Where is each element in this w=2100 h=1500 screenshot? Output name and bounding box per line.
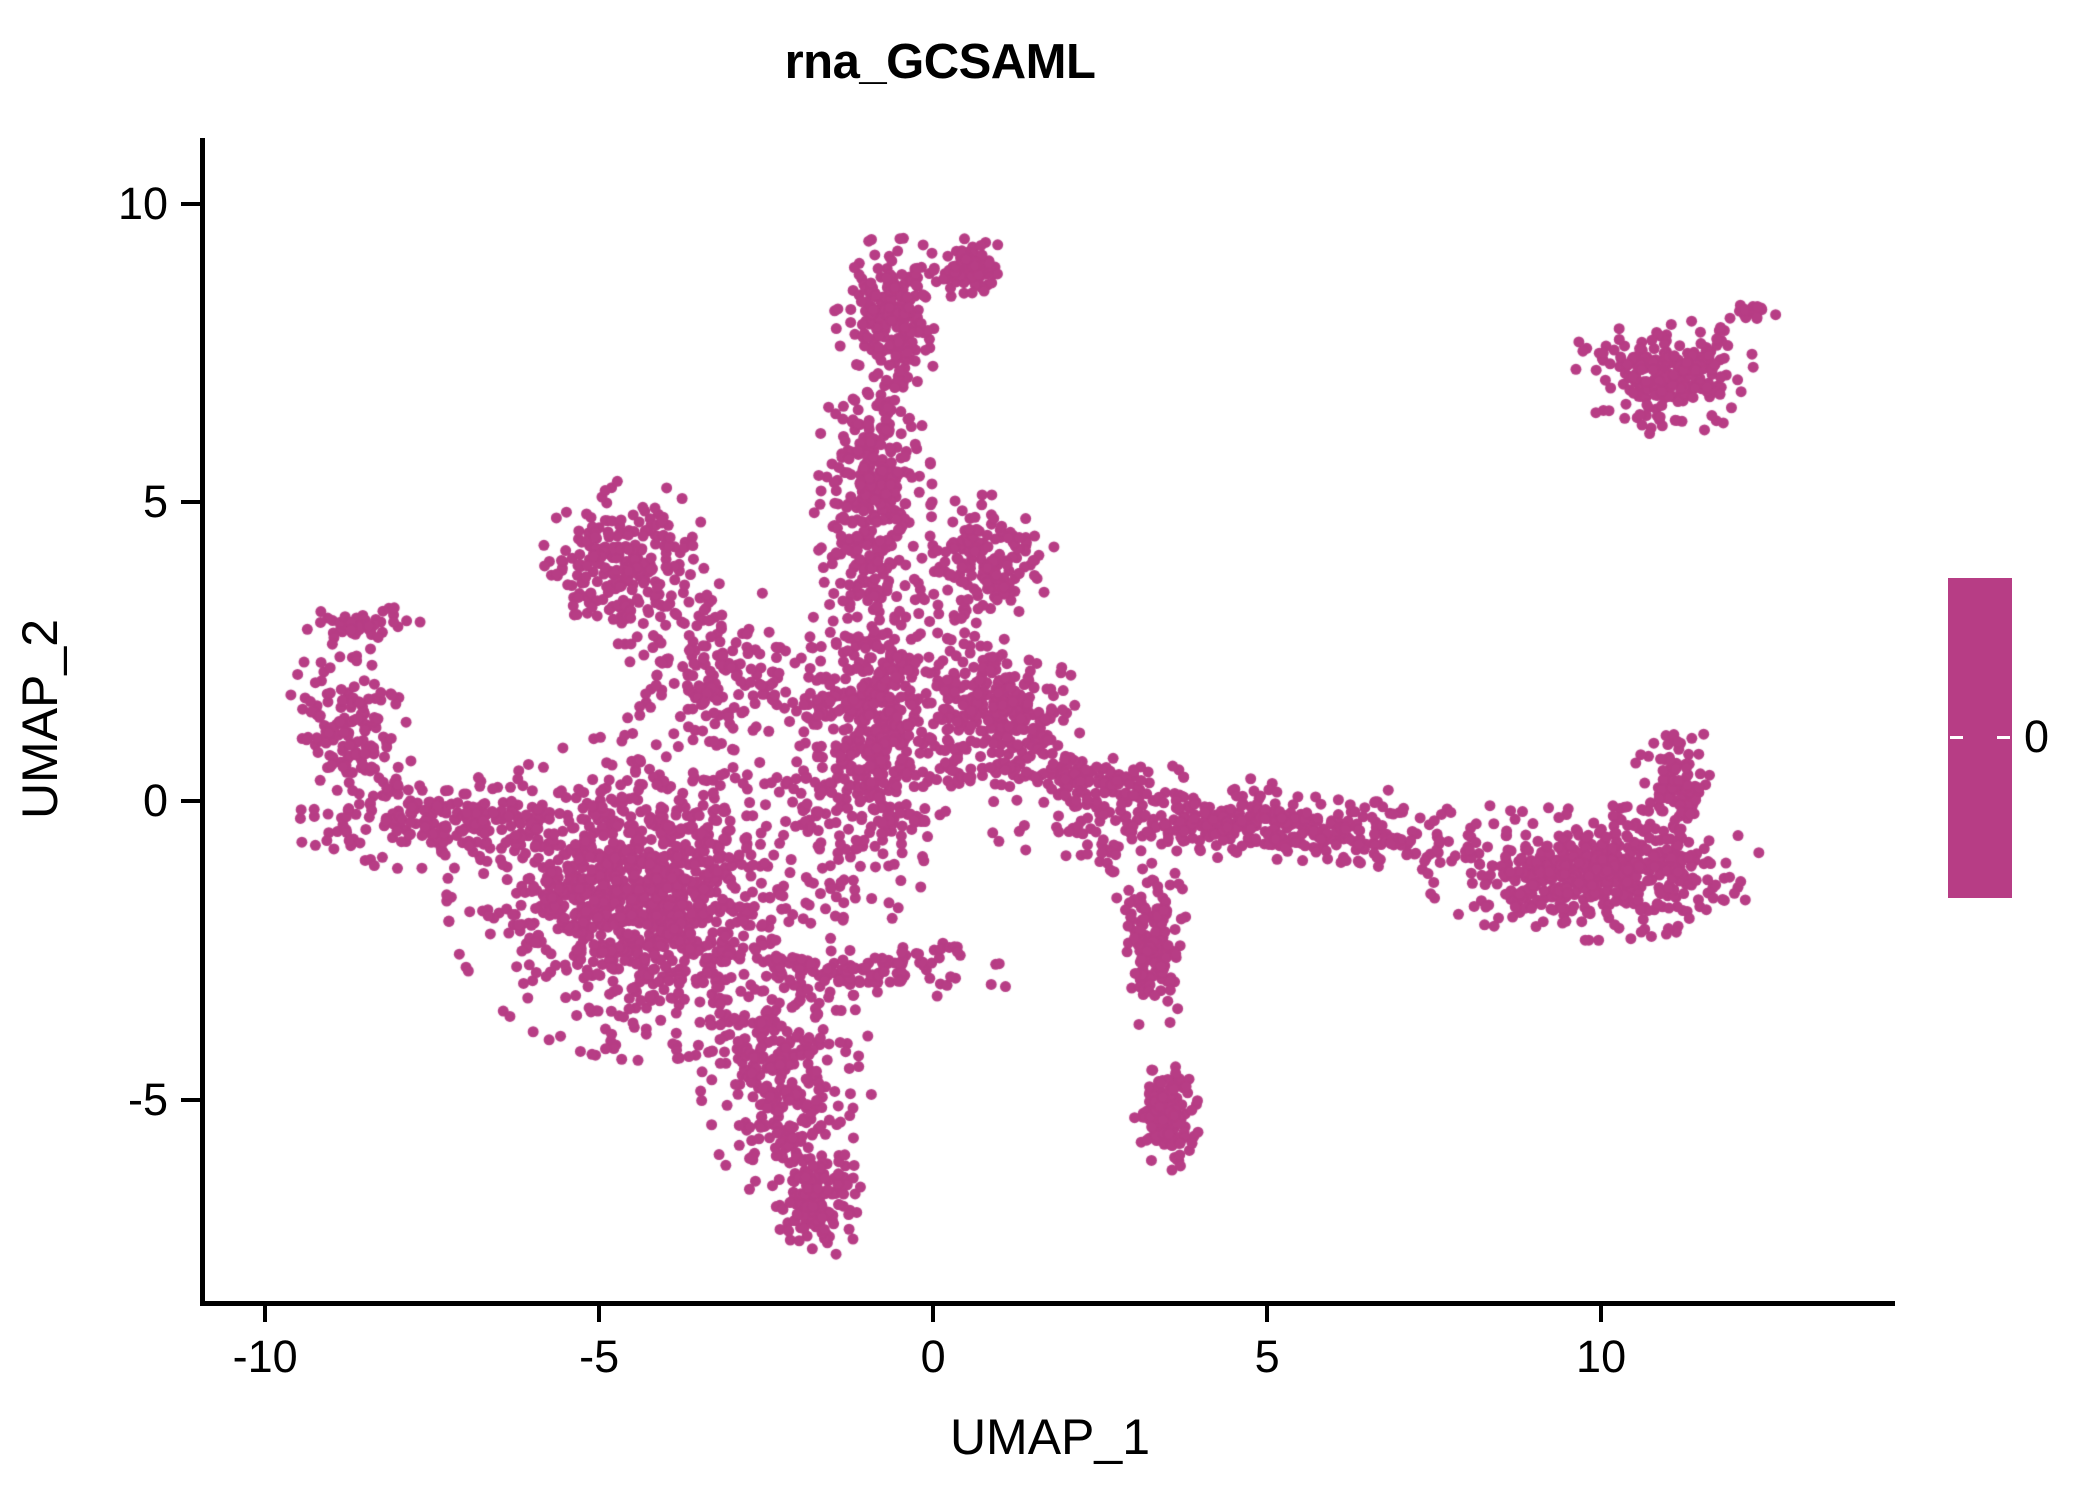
colorbar-gradient	[1948, 578, 2012, 898]
colorbar-tick-left-icon	[1950, 736, 1963, 739]
x-tick-label: 5	[1167, 1329, 1367, 1385]
plot-panel	[205, 138, 1895, 1303]
x-tick-mark-icon	[1599, 1303, 1603, 1322]
x-axis-title: UMAP_1	[205, 1408, 1895, 1466]
chart-root: rna_GCSAML 1050-5 -10-50510 UMAP_1 UMAP_…	[0, 0, 2100, 1500]
y-tick-label: -5	[128, 1072, 168, 1128]
x-tick-mark-icon	[1265, 1303, 1269, 1322]
x-tick-label: -10	[165, 1329, 365, 1385]
scatter-plot-canvas	[205, 138, 1895, 1303]
y-tick-label: 10	[118, 176, 168, 232]
y-tick-mark-icon	[181, 500, 200, 504]
y-tick-mark-icon	[181, 1098, 200, 1102]
x-tick-label: -5	[499, 1329, 699, 1385]
x-tick-label: 10	[1501, 1329, 1701, 1385]
x-axis-line	[200, 1301, 1895, 1306]
colorbar-legend: 0	[1948, 578, 2088, 918]
page-title: rna_GCSAML	[0, 34, 1880, 90]
y-tick-label: 5	[143, 474, 168, 530]
y-tick-mark-icon	[181, 799, 200, 803]
y-tick-mark-icon	[181, 202, 200, 206]
colorbar-tick-label: 0	[2024, 709, 2049, 765]
y-tick-label: 0	[143, 773, 168, 829]
x-tick-label: 0	[833, 1329, 1033, 1385]
x-tick-mark-icon	[597, 1303, 601, 1322]
colorbar-tick-right-icon	[1997, 736, 2010, 739]
x-tick-mark-icon	[931, 1303, 935, 1322]
y-axis-line	[200, 138, 205, 1306]
x-tick-mark-icon	[263, 1303, 267, 1322]
y-axis-title: UMAP_2	[11, 119, 69, 1319]
